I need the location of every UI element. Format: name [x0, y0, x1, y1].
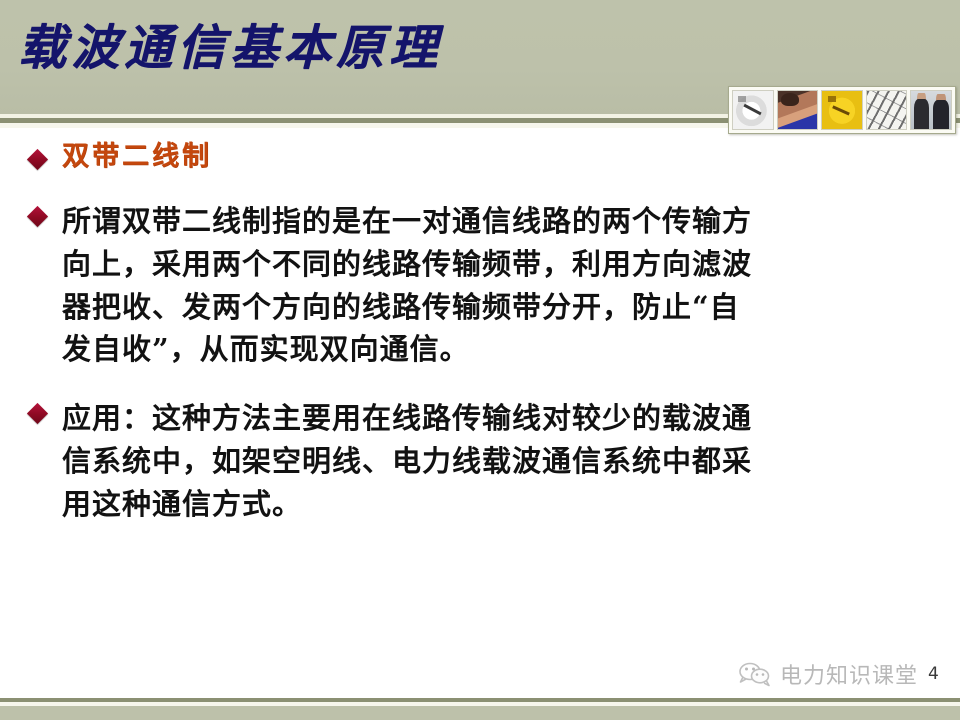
slide-canvas: 载波通信基本原理 双带二线制 所谓双带二线制指的是在一对通信线路的两个传输方 向… — [0, 0, 960, 720]
spacer — [0, 377, 960, 397]
bullet-paragraph-row-1: 所谓双带二线制指的是在一对通信线路的两个传输方 向上，采用两个不同的线路传输频带… — [0, 200, 960, 372]
section-heading: 双带二线制 — [62, 140, 942, 174]
photo-thumb-clock-gray-icon — [732, 90, 774, 130]
paragraph-line: 信系统中，如架空明线、电力线载波通信系统中都采 — [62, 440, 942, 483]
paragraph-line: 发自收”，从而实现双向通信。 — [62, 328, 942, 371]
paragraph-1: 所谓双带二线制指的是在一对通信线路的两个传输方 向上，采用两个不同的线路传输频带… — [62, 200, 942, 372]
bullet-heading-row: 双带二线制 — [0, 140, 960, 174]
photo-thumb-person-blue-icon — [777, 90, 819, 130]
diamond-bullet-icon — [27, 206, 48, 227]
page-number: 4 — [928, 664, 939, 684]
watermark: 电力知识课堂 — [738, 658, 918, 690]
photo-thumb-clock-yellow-icon — [821, 90, 863, 130]
diamond-bullet-icon — [27, 149, 48, 170]
paragraph-line: 用这种通信方式。 — [62, 483, 942, 526]
spacer — [0, 180, 960, 200]
photo-thumb-lattice-icon — [866, 90, 908, 130]
paragraph-line: 器把收、发两个方向的线路传输频带分开，防止“自 — [62, 286, 942, 329]
paragraph-line: 向上，采用两个不同的线路传输频带，利用方向滤波 — [62, 243, 942, 286]
page-title: 载波通信基本原理 — [18, 22, 442, 75]
diamond-bullet-icon — [27, 403, 48, 424]
paragraph-line: 应用：这种方法主要用在线路传输线对较少的载波通 — [62, 397, 942, 440]
photo-thumb-businessmen-icon — [910, 90, 952, 130]
paragraph-2: 应用：这种方法主要用在线路传输线对较少的载波通 信系统中，如架空明线、电力线载波… — [62, 397, 942, 526]
bullet-paragraph-row-2: 应用：这种方法主要用在线路传输线对较少的载波通 信系统中，如架空明线、电力线载波… — [0, 397, 960, 526]
footer-band — [0, 706, 960, 720]
photo-strip — [728, 86, 956, 134]
wechat-icon — [738, 661, 772, 687]
watermark-text: 电力知识课堂 — [780, 658, 918, 690]
content-body: 双带二线制 所谓双带二线制指的是在一对通信线路的两个传输方 向上，采用两个不同的… — [0, 140, 960, 532]
paragraph-line: 所谓双带二线制指的是在一对通信线路的两个传输方 — [62, 200, 942, 243]
